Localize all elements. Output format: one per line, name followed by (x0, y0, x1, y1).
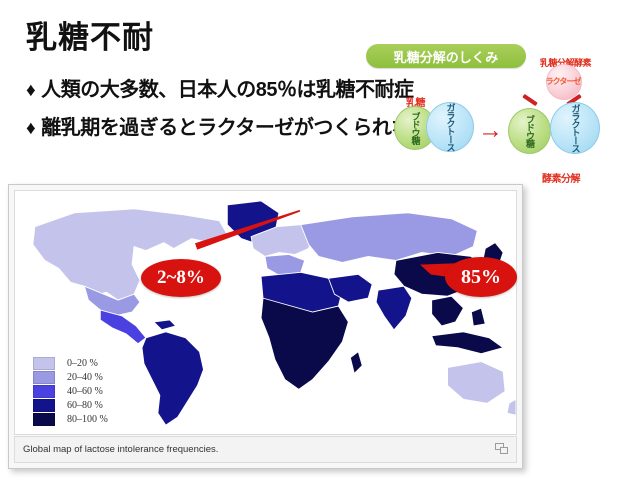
map-legend: 0–20 % 20–40 % 40–60 % 60–80 % 80–100 % (33, 356, 108, 426)
legend-row: 80–100 % (33, 412, 108, 426)
bullet-diamond-icon: ♦ (26, 118, 35, 139)
page-title: 乳糖不耐 (26, 22, 154, 53)
legend-row: 40–60 % (33, 384, 108, 398)
legend-label: 80–100 % (67, 414, 108, 425)
legend-swatch (33, 399, 55, 412)
legend-swatch (33, 385, 55, 398)
callout-europe: 2~8% (141, 259, 221, 297)
bullet-text-1: 人類の大多数、日本人の85％は乳糖不耐症 (41, 79, 413, 101)
enlarge-icon[interactable] (495, 441, 508, 459)
label-lactase-name: ラクターゼ (544, 76, 582, 87)
legend-label: 0–20 % (67, 358, 98, 369)
world-map-figure: 0–20 % 20–40 % 40–60 % 60–80 % 80–100 % (14, 190, 517, 435)
bullet-diamond-icon: ♦ (26, 80, 35, 101)
callout-japan: 85% (445, 257, 517, 297)
cleavage-mark-left-icon (522, 94, 538, 106)
legend-label: 20–40 % (67, 372, 103, 383)
arrow-right-icon: → (478, 118, 503, 143)
legend-row: 60–80 % (33, 398, 108, 412)
label-enzymatic-digestion: 酵素分解 (542, 170, 580, 185)
lactose-mechanism-diagram: 乳糖分解のしくみ 乳糖 乳糖分解酵素 酵素分解 ブドウ糖 ガラクトース → ラク… (360, 36, 636, 188)
diagram-heading-pill: 乳糖分解のしくみ (366, 44, 526, 68)
legend-swatch (33, 413, 55, 426)
molecule-galactose-free: ガラクトース (550, 102, 600, 154)
legend-swatch (33, 357, 55, 370)
slide-canvas: 乳糖不耐 ♦人類の大多数、日本人の85％は乳糖不耐症 ♦離乳期を過ぎるとラクター… (0, 0, 640, 480)
molecule-galactose-bound: ガラクトース (426, 102, 474, 152)
map-panel: 0–20 % 20–40 % 40–60 % 60–80 % 80–100 % (8, 184, 523, 469)
molecule-glucose-free: ブドウ糖 (508, 108, 551, 154)
legend-label: 40–60 % (67, 386, 103, 397)
figure-caption-text: Global map of lactose intolerance freque… (23, 444, 218, 455)
legend-row: 20–40 % (33, 370, 108, 384)
legend-swatch (33, 371, 55, 384)
legend-label: 60–80 % (67, 400, 103, 411)
figure-caption-bar: Global map of lactose intolerance freque… (14, 436, 517, 463)
legend-row: 0–20 % (33, 356, 108, 370)
bullet-item-1: ♦人類の大多数、日本人の85％は乳糖不耐症 (26, 80, 413, 100)
